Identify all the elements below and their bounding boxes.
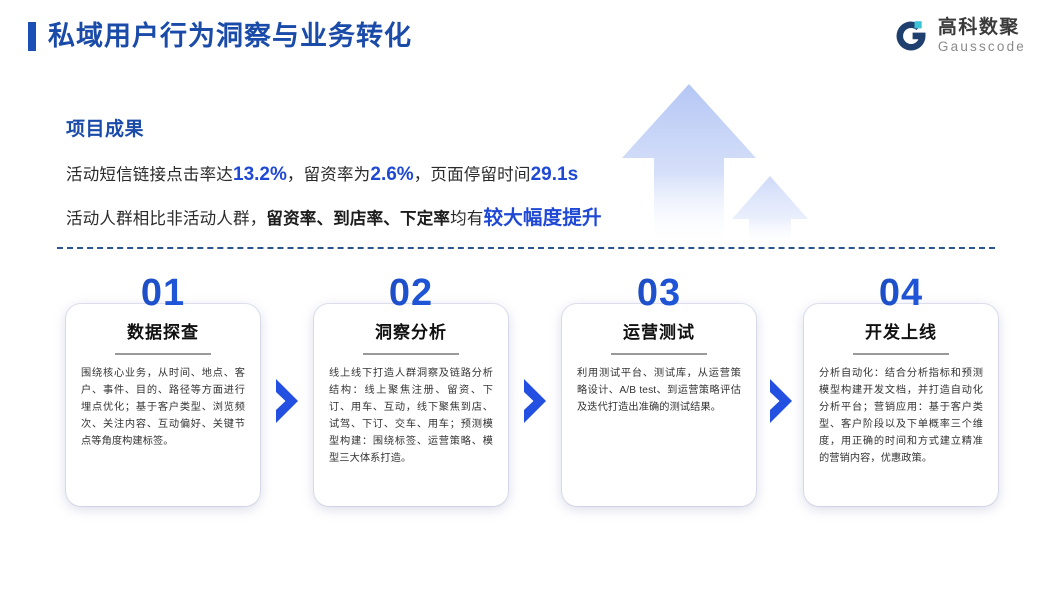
results-heading: 项目成果 [66,114,144,141]
step-description-01: 围绕核心业务，从时间、地点、客户、事件、目的、路径等方面进行埋点优化；基于客户类… [78,365,248,450]
step-title-02: 洞察分析 [326,322,496,344]
slide-root: 私域用户行为洞察与业务转化 高科数聚 Gausscode 项目成果 活动短信链接… [0,0,1048,591]
step-title-04: 开发上线 [816,322,986,344]
gausscode-logo-icon [893,18,929,54]
step-description-03: 利用测试平台、测试库，从运营策略设计、A/B test、到运营策略评估及迭代打造… [574,365,744,416]
dashed-divider [57,247,995,249]
step-card-body-02[interactable]: 洞察分析 线上线下打造人群洞察及链路分析结构：线上聚焦注册、留资、下订、用车、互… [314,304,508,506]
results-metric-lead-rate: 2.6% [370,164,413,185]
results-metric-click-rate: 13.2% [233,164,287,185]
results-metric-dwell-time: 29.1s [531,164,579,185]
title-accent-bar [28,22,36,51]
step-rule-04 [853,353,949,355]
step-number-01: 01 [66,272,260,314]
brand-name-en: Gausscode [938,39,1026,55]
step-card-04[interactable]: 04 开发上线 分析自动化：结合分析指标和预测模型构建开发文档，并打造自动化分析… [804,272,998,506]
step-chevron-icon-3 [766,379,796,423]
step-card-body-01[interactable]: 数据探查 围绕核心业务，从时间、地点、客户、事件、目的、路径等方面进行埋点优化；… [66,304,260,506]
results-l1-seg2: ，留资率为 [287,166,371,184]
step-description-04: 分析自动化：结合分析指标和预测模型构建开发文档，并打造自动化分析平台；营销应用：… [816,365,986,467]
brand-name-cn: 高科数聚 [938,17,1026,38]
step-description-02: 线上线下打造人群洞察及链路分析结构：线上聚焦注册、留资、下订、用车、互动，线下聚… [326,365,496,467]
results-l1-seg1: 活动短信链接点击率达 [66,166,233,184]
step-chevron-icon-2 [520,379,550,423]
brand-logo: 高科数聚 Gausscode [893,17,1026,55]
results-l1-seg3: ，页面停留时间 [414,166,531,184]
brand-logo-text: 高科数聚 Gausscode [938,17,1026,55]
step-card-02[interactable]: 02 洞察分析 线上线下打造人群洞察及链路分析结构：线上聚焦注册、留资、下订、用… [314,272,508,506]
results-l2-highlight: 较大幅度提升 [484,207,602,229]
step-card-body-04[interactable]: 开发上线 分析自动化：结合分析指标和预测模型构建开发文档，并打造自动化分析平台；… [804,304,998,506]
step-rule-01 [115,353,211,355]
results-line-1: 活动短信链接点击率达13.2%，留资率为2.6%，页面停留时间29.1s [66,161,578,186]
step-card-01[interactable]: 01 数据探查 围绕核心业务，从时间、地点、客户、事件、目的、路径等方面进行埋点… [66,272,260,506]
step-title-03: 运营测试 [574,322,744,344]
step-chevron-icon-1 [272,379,302,423]
step-title-01: 数据探查 [78,322,248,344]
step-rule-03 [611,353,707,355]
results-l2-seg2: 均有 [450,210,483,228]
step-number-04: 04 [804,272,998,314]
results-line-2: 活动人群相比非活动人群，留资率、到店率、下定率均有较大幅度提升 [66,201,602,230]
step-card-03[interactable]: 03 运营测试 利用测试平台、测试库，从运营策略设计、A/B test、到运营策… [562,272,756,506]
process-steps: 01 数据探查 围绕核心业务，从时间、地点、客户、事件、目的、路径等方面进行埋点… [0,272,1048,522]
step-number-03: 03 [562,272,756,314]
step-rule-02 [363,353,459,355]
step-number-02: 02 [314,272,508,314]
results-l2-metrics: 留资率、到店率、下定率 [266,210,450,228]
page-header: 私域用户行为洞察与业务转化 高科数聚 Gausscode [0,0,1048,78]
background-arrow-large [622,84,756,246]
background-arrow-small [732,176,808,247]
step-card-body-03[interactable]: 运营测试 利用测试平台、测试库，从运营策略设计、A/B test、到运营策略评估… [562,304,756,506]
page-title: 私域用户行为洞察与业务转化 [48,17,412,55]
results-l2-seg1: 活动人群相比非活动人群， [66,210,266,228]
